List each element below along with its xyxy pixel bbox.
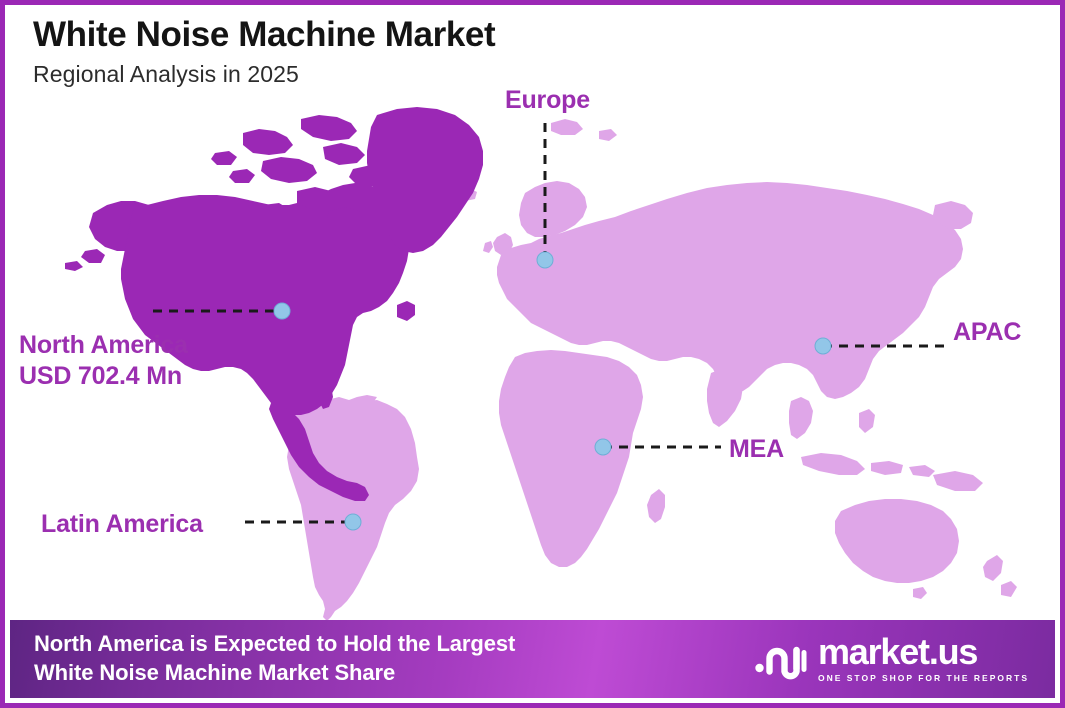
region-label-latin-america: Latin America <box>41 509 203 540</box>
market-us-logo[interactable]: market.us ONE STOP SHOP FOR THE REPORTS <box>755 635 1029 682</box>
region-name-europe: Europe <box>505 86 590 114</box>
banner-headline: North America is Expected to Hold the La… <box>34 630 515 687</box>
banner-headline-line1: North America is Expected to Hold the La… <box>34 630 515 659</box>
header: White Noise Machine Market Regional Anal… <box>33 17 495 88</box>
region-value-north-america: USD 702.4 Mn <box>19 361 188 392</box>
marker-north-america[interactable] <box>274 303 291 320</box>
banner-headline-line2: White Noise Machine Market Share <box>34 659 515 688</box>
marker-europe[interactable] <box>537 252 554 269</box>
page-title: White Noise Machine Market <box>33 17 495 54</box>
region-name-apac: APAC <box>953 318 1021 346</box>
region-label-north-america: North America USD 702.4 Mn <box>19 330 188 391</box>
region-label-europe: Europe <box>505 85 590 116</box>
infographic-frame: North America USD 702.4 Mn Europe APAC M… <box>0 0 1065 708</box>
marker-mea[interactable] <box>595 439 612 456</box>
region-name-mea: MEA <box>729 435 784 463</box>
region-label-apac: APAC <box>953 317 1021 348</box>
world-map-container: North America USD 702.4 Mn Europe APAC M… <box>5 5 1065 635</box>
marker-apac[interactable] <box>815 338 832 355</box>
marker-latin-america[interactable] <box>345 514 362 531</box>
logo-text-block: market.us ONE STOP SHOP FOR THE REPORTS <box>818 635 1029 682</box>
region-name-north-america: North America <box>19 331 188 359</box>
map-region-north-america <box>65 107 483 501</box>
market-us-wave-icon <box>755 637 807 681</box>
page-subtitle: Regional Analysis in 2025 <box>33 61 495 88</box>
region-label-mea: MEA <box>729 434 784 465</box>
bottom-banner: North America is Expected to Hold the La… <box>10 620 1055 698</box>
logo-tagline: ONE STOP SHOP FOR THE REPORTS <box>818 673 1029 683</box>
logo-wordmark: market.us <box>818 635 977 669</box>
region-name-latin-america: Latin America <box>41 510 203 538</box>
